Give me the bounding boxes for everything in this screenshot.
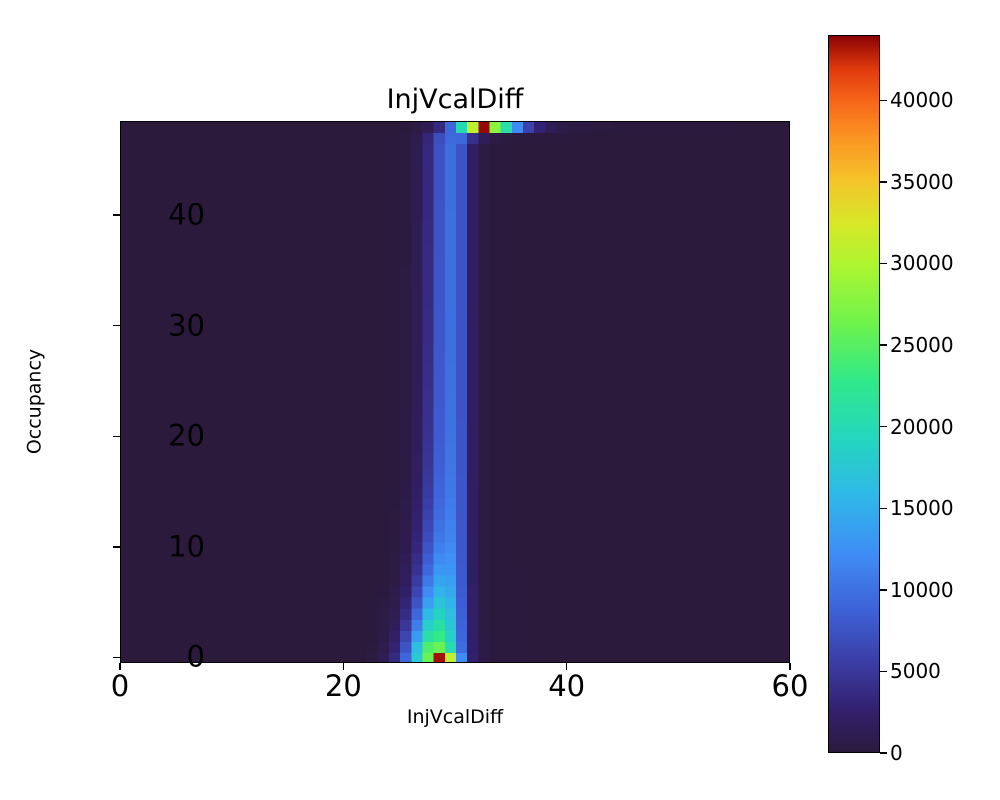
- y-tick-mark: [113, 214, 120, 215]
- y-tick-label: 10: [168, 532, 205, 561]
- colorbar-tick-mark: [880, 100, 887, 101]
- colorbar-tick-label: 15000: [890, 498, 954, 518]
- figure-canvas: InjVcalDiff 0204060 InjVcalDiff 01020304…: [0, 0, 1000, 800]
- colorbar-tick-label: 35000: [890, 172, 954, 192]
- colorbar-tick-mark: [880, 589, 887, 590]
- x-axis-label: InjVcalDiff: [120, 708, 790, 727]
- colorbar-tick-mark: [880, 263, 887, 264]
- x-tick-label: 60: [772, 672, 809, 701]
- y-tick-mark: [113, 546, 120, 547]
- colorbar-tick-label: 0: [890, 743, 903, 763]
- colorbar-tick-label: 10000: [890, 580, 954, 600]
- colorbar-tick-mark: [880, 508, 887, 509]
- colorbar-tick-mark: [880, 426, 887, 427]
- y-tick-label: 30: [168, 311, 205, 340]
- colorbar-tick-label: 25000: [890, 335, 954, 355]
- colorbar-tick-mark: [880, 752, 887, 753]
- y-tick-label: 20: [168, 422, 205, 451]
- x-tick-label: 40: [548, 672, 585, 701]
- colorbar-tick-mark: [880, 181, 887, 182]
- colorbar-gradient: [829, 36, 880, 753]
- x-tick-label: 0: [111, 672, 129, 701]
- colorbar-tick-mark: [880, 344, 887, 345]
- page-title: InjVcalDiff: [120, 86, 790, 113]
- y-tick-mark: [113, 657, 120, 658]
- x-tick-label: 20: [325, 672, 362, 701]
- y-tick-mark: [113, 325, 120, 326]
- y-tick-label: 0: [187, 643, 205, 672]
- y-axis-label: Occupancy: [26, 292, 45, 512]
- colorbar-tick-label: 5000: [890, 661, 941, 681]
- y-tick-mark: [113, 436, 120, 437]
- heatmap-image: [121, 122, 790, 663]
- colorbar-tick-label: 20000: [890, 417, 954, 437]
- colorbar-tick-label: 40000: [890, 90, 954, 110]
- colorbar-tick-label: 30000: [890, 253, 954, 273]
- y-tick-label: 40: [168, 201, 205, 230]
- colorbar-tick-mark: [880, 671, 887, 672]
- colorbar: [828, 35, 880, 753]
- heatmap-axes: [120, 121, 790, 663]
